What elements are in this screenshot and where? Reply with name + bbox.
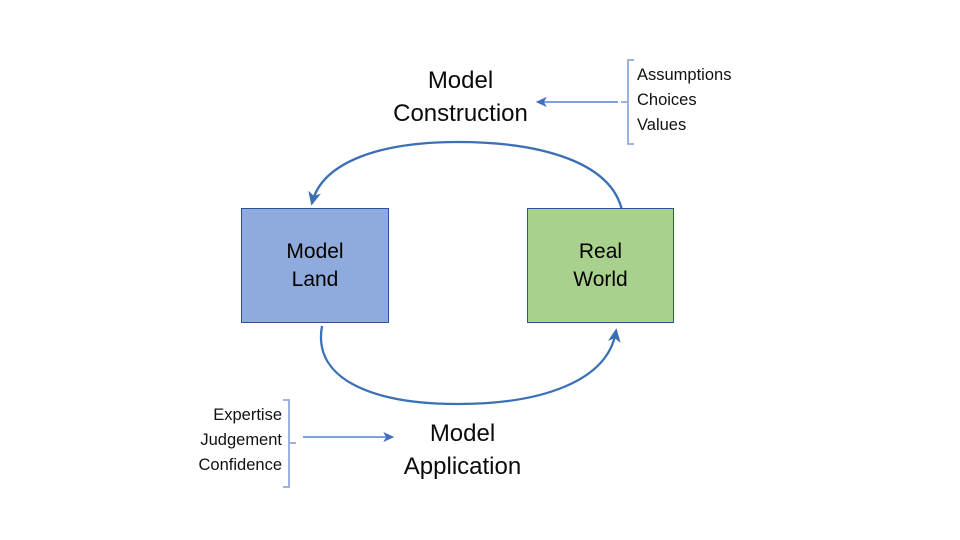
label-model-construction-line-2: Construction	[368, 97, 553, 130]
arc-model-construction	[312, 142, 623, 216]
label-model-application-line-2: Application	[370, 450, 555, 483]
bracket-top-item-choices: Choices	[637, 88, 731, 113]
label-model-construction: Model Construction	[368, 64, 553, 130]
bracket-bottom	[283, 400, 296, 487]
node-model-land-line-1: Model	[286, 238, 343, 266]
node-model-land-line-2: Land	[292, 266, 339, 294]
arc-model-application	[321, 326, 616, 404]
diagram-canvas: Model Land Real World Model Construction…	[0, 0, 960, 540]
bracket-bottom-item-confidence: Confidence	[190, 453, 282, 478]
bracket-top-item-assumptions: Assumptions	[637, 63, 731, 88]
bracket-bottom-item-judgement: Judgement	[190, 428, 282, 453]
label-model-construction-line-1: Model	[368, 64, 553, 97]
bracket-bottom-item-expertise: Expertise	[190, 403, 282, 428]
label-model-application: Model Application	[370, 417, 555, 483]
node-model-land[interactable]: Model Land	[241, 208, 389, 323]
bracket-top-items: Assumptions Choices Values	[637, 63, 731, 138]
node-real-world-line-2: World	[573, 266, 627, 294]
bracket-top-item-values: Values	[637, 113, 731, 138]
node-real-world[interactable]: Real World	[527, 208, 674, 323]
label-model-application-line-1: Model	[370, 417, 555, 450]
node-real-world-line-1: Real	[579, 238, 622, 266]
bracket-top	[621, 60, 634, 144]
bracket-bottom-items: Expertise Judgement Confidence	[190, 403, 282, 478]
